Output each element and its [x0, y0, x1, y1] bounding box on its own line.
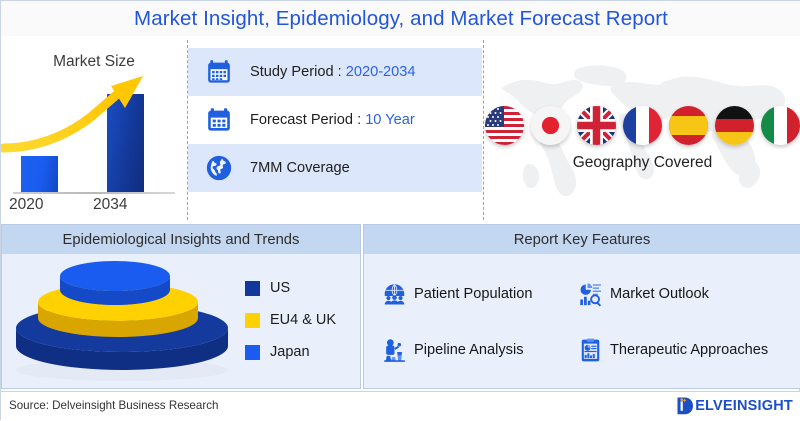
- geography-section: Geography Covered: [484, 36, 800, 224]
- legend-swatch-japan: [245, 345, 260, 360]
- legend-swatch-us: [245, 281, 260, 296]
- geography-label: Geography Covered: [484, 154, 800, 172]
- epidemiology-panel-header: Epidemiological Insights and Trends: [2, 225, 360, 254]
- legend-swatch-eu4-uk: [245, 313, 260, 328]
- feature-patient-population: Patient Population: [374, 282, 570, 307]
- legend-label-us: US: [270, 280, 290, 296]
- source-text: Source: Delveinsight Business Research: [9, 399, 218, 412]
- features-row-1: Patient Population: [374, 266, 800, 322]
- footer: Source: Delveinsight Business Research E…: [1, 391, 800, 421]
- info-value-forecast-period: 10 Year: [365, 112, 415, 128]
- legend-item-eu4-uk: EU4 & UK: [245, 312, 357, 328]
- info-row-study-period: Study Period : 2020-2034: [188, 48, 482, 96]
- epidemiology-panel-title: Epidemiological Insights and Trends: [63, 232, 300, 248]
- feature-label-pipeline-analysis: Pipeline Analysis: [414, 342, 524, 358]
- patient-population-icon: [374, 282, 414, 307]
- calendar-icon: [188, 107, 250, 133]
- info-row-forecast-period: Forecast Period : 10 Year: [188, 96, 482, 144]
- market-size-title: Market Size: [1, 53, 187, 71]
- info-text-forecast-period: Forecast Period : 10 Year: [250, 112, 415, 128]
- globe-icon: [188, 155, 250, 181]
- epidemiology-panel: Epidemiological Insights and Trends: [1, 224, 361, 389]
- info-label-forecast-period: Forecast Period :: [250, 112, 365, 128]
- flag-germany: [715, 106, 754, 145]
- features-panel-title: Report Key Features: [514, 232, 651, 248]
- market-size-axis-labels: 2020 2034: [1, 196, 187, 220]
- therapeutic-approaches-icon: [570, 338, 610, 363]
- features-panel: Report Key Features: [363, 224, 800, 389]
- legend-label-japan: Japan: [270, 344, 310, 360]
- page-title: Market Insight, Epidemiology, and Market…: [134, 7, 668, 31]
- axis-label-2034: 2034: [93, 196, 127, 214]
- info-row-coverage: 7MM Coverage: [188, 144, 482, 192]
- info-value-study-period: 2020-2034: [346, 64, 416, 80]
- feature-label-market-outlook: Market Outlook: [610, 286, 709, 302]
- study-info-list: Study Period : 2020-2034: [188, 40, 482, 220]
- legend-item-japan: Japan: [245, 344, 357, 360]
- growth-arrow-icon: [1, 72, 187, 198]
- feature-label-patient-population: Patient Population: [414, 286, 532, 302]
- axis-label-2020: 2020: [9, 196, 43, 214]
- feature-label-therapeutic-approaches: Therapeutic Approaches: [610, 342, 768, 358]
- features-panel-header: Report Key Features: [364, 225, 800, 254]
- pipeline-analysis-icon: [374, 338, 414, 363]
- flag-italy: [761, 106, 800, 145]
- logo-text: ELVEINSIGHT: [695, 398, 793, 414]
- flag-uk: [577, 106, 616, 145]
- flag-japan: [531, 106, 570, 145]
- features-grid: Patient Population: [364, 254, 800, 388]
- logo-mark-icon: [676, 396, 695, 416]
- layered-disc-chart: [8, 258, 236, 382]
- feature-pipeline-analysis: Pipeline Analysis: [374, 338, 570, 363]
- title-bar: Market Insight, Epidemiology, and Market…: [1, 1, 800, 37]
- feature-market-outlook: Market Outlook: [570, 282, 709, 307]
- legend-item-us: US: [245, 280, 357, 296]
- calendar-icon: [188, 59, 250, 85]
- flag-france: [623, 106, 662, 145]
- epidemiology-legend: US EU4 & UK Japan: [245, 280, 357, 376]
- flag-spain: [669, 106, 708, 145]
- market-size-chart: Market Size 2020 2034: [1, 36, 187, 224]
- info-label-study-period: Study Period :: [250, 64, 346, 80]
- bottom-section: Epidemiological Insights and Trends: [1, 224, 800, 389]
- features-row-2: Pipeline Analysis: [374, 322, 800, 378]
- epidemiology-chart-body: US EU4 & UK Japan: [2, 254, 360, 388]
- legend-label-eu4-uk: EU4 & UK: [270, 312, 336, 328]
- report-infographic: Market Insight, Epidemiology, and Market…: [0, 0, 800, 420]
- feature-therapeutic-approaches: Therapeutic Approaches: [570, 338, 768, 363]
- flag-usa: [485, 106, 524, 145]
- delveinsight-logo[interactable]: ELVEINSIGHT: [676, 396, 793, 416]
- info-text-study-period: Study Period : 2020-2034: [250, 64, 416, 80]
- market-outlook-icon: [570, 282, 610, 307]
- info-text-coverage: 7MM Coverage: [250, 160, 350, 176]
- top-section: Market Size 2020 2034: [1, 36, 800, 224]
- flags-row: [484, 102, 800, 148]
